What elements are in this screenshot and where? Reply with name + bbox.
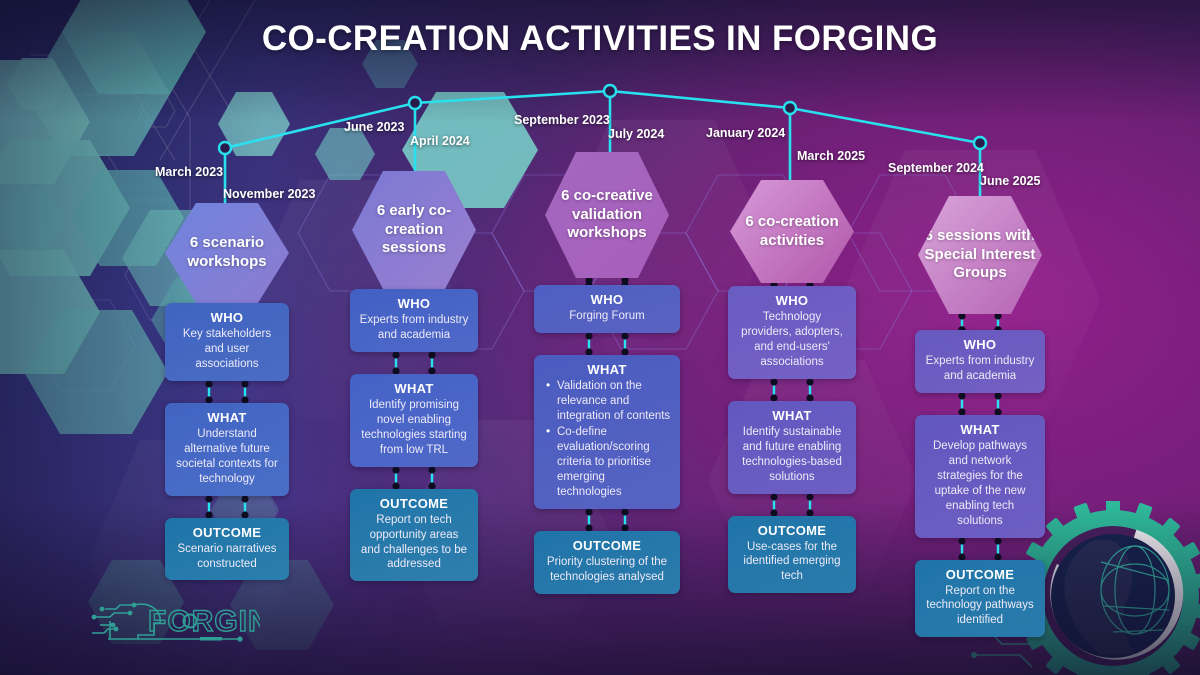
card-connector <box>314 467 514 489</box>
card-title: WHO <box>543 292 671 307</box>
timeline-date-label: July 2024 <box>608 127 664 141</box>
card-body: Identify promising novel enabling techno… <box>359 398 469 458</box>
forging-logo-text: FORGING <box>148 605 260 638</box>
card-body: Priority clustering of the technologies … <box>543 555 671 585</box>
card-outcome[interactable]: OUTCOMEReport on tech opportunity areas … <box>350 489 478 582</box>
timeline-date-label: September 2023 <box>514 113 610 127</box>
card-outcome[interactable]: OUTCOMEReport on the technology pathways… <box>915 560 1045 638</box>
card-title: WHAT <box>924 422 1036 437</box>
card-body: Validation on the relevance and integrat… <box>543 379 671 500</box>
card-connector <box>127 496 327 518</box>
card-outcome[interactable]: OUTCOMEUse-cases for the identified emer… <box>728 516 856 594</box>
card-title: WHO <box>174 310 280 325</box>
card-body: Understand alternative future societal c… <box>174 427 280 487</box>
card-outcome[interactable]: OUTCOMEPriority clustering of the techno… <box>534 531 680 594</box>
card-body: Scenario narratives constructed <box>174 542 280 572</box>
timeline-date-label: June 2025 <box>980 174 1040 188</box>
card-connector <box>692 494 892 516</box>
card-what[interactable]: WHATIdentify promising novel enabling te… <box>350 374 478 467</box>
card-who[interactable]: WHOExperts from industry and academia <box>350 289 478 352</box>
card-connector <box>692 379 892 401</box>
activity-hexagon-label: 6 co-creative validation workshops <box>545 152 669 278</box>
activity-hexagon[interactable]: 6 co-creation activities <box>730 180 854 283</box>
col-special-interest-groups: 6 sessions with Special Interest Groups … <box>880 196 1080 637</box>
card-who[interactable]: WHOTechnology providers, adopters, and e… <box>728 286 856 379</box>
activity-hexagon-label: 6 scenario workshops <box>165 203 289 303</box>
card-who[interactable]: WHOForging Forum <box>534 285 680 333</box>
card-body: Experts from industry and academia <box>924 354 1036 384</box>
card-title: WHO <box>359 296 469 311</box>
activity-hexagon-label: 6 co-creation activities <box>730 180 854 283</box>
card-title: OUTCOME <box>924 567 1036 582</box>
card-body: Report on the technology pathways identi… <box>924 584 1036 629</box>
hexagon-to-card-connector <box>880 314 1080 330</box>
card-what[interactable]: WHATDevelop pathways and network strateg… <box>915 415 1045 538</box>
card-title: WHAT <box>359 381 469 396</box>
timeline-date-label: September 2024 <box>888 161 984 175</box>
timeline-date-label: March 2025 <box>797 149 865 163</box>
card-body: Forging Forum <box>543 309 671 324</box>
activity-hexagon-label: 6 sessions with Special Interest Groups <box>918 196 1042 314</box>
activity-hexagon[interactable]: 6 co-creative validation workshops <box>545 152 669 278</box>
card-title: OUTCOME <box>174 525 280 540</box>
hexagon-to-card-connector <box>507 278 707 285</box>
infographic-canvas: CO-CREATION ACTIVITIES IN FORGING March … <box>0 0 1200 675</box>
card-body: Technology providers, adopters, and end-… <box>737 310 847 370</box>
card-title: WHAT <box>737 408 847 423</box>
card-body: Report on tech opportunity areas and cha… <box>359 513 469 573</box>
card-title: OUTCOME <box>543 538 671 553</box>
card-who[interactable]: WHOExperts from industry and academia <box>915 330 1045 393</box>
card-bullet: Validation on the relevance and integrat… <box>545 379 671 424</box>
timeline-date-label: January 2024 <box>706 126 785 140</box>
card-connector <box>507 333 707 355</box>
col-scenario-workshops: 6 scenario workshops WHOKey stakeholders… <box>127 203 327 580</box>
card-body: Develop pathways and network strategies … <box>924 439 1036 529</box>
card-title: OUTCOME <box>737 523 847 538</box>
card-connector <box>507 509 707 531</box>
card-what[interactable]: WHATValidation on the relevance and inte… <box>534 355 680 510</box>
card-who[interactable]: WHOKey stakeholders and user association… <box>165 303 289 381</box>
activity-hexagon[interactable]: 6 scenario workshops <box>165 203 289 303</box>
card-body: Experts from industry and academia <box>359 313 469 343</box>
card-connector <box>314 352 514 374</box>
card-bullet: Co-define evaluation/scoring criteria to… <box>545 425 671 500</box>
card-title: WHO <box>924 337 1036 352</box>
col-early-co-creation: 6 early co-creation sessions WHOExperts … <box>314 171 514 581</box>
timeline-date-label: April 2024 <box>410 134 470 148</box>
card-what[interactable]: WHATUnderstand alternative future societ… <box>165 403 289 496</box>
card-body: Use-cases for the identified emerging te… <box>737 540 847 585</box>
timeline-date-label: March 2023 <box>155 165 223 179</box>
card-connector <box>880 393 1080 415</box>
activity-hexagon-label: 6 early co-creation sessions <box>352 171 476 289</box>
col-co-creative-validation: 6 co-creative validation workshops WHOFo… <box>507 152 707 594</box>
card-title: WHAT <box>174 410 280 425</box>
col-co-creation-activities: 6 co-creation activities WHOTechnology p… <box>692 180 892 593</box>
card-outcome[interactable]: OUTCOMEScenario narratives constructed <box>165 518 289 581</box>
card-title: WHO <box>737 293 847 308</box>
forging-logo: FORGING <box>50 595 260 653</box>
timeline-date-label: June 2023 <box>344 120 404 134</box>
card-what[interactable]: WHATIdentify sustainable and future enab… <box>728 401 856 494</box>
card-connector <box>127 381 327 403</box>
card-title: WHAT <box>543 362 671 377</box>
activity-hexagon[interactable]: 6 early co-creation sessions <box>352 171 476 289</box>
timeline-date-label: November 2023 <box>223 187 315 201</box>
card-body: Identify sustainable and future enabling… <box>737 425 847 485</box>
activity-hexagon[interactable]: 6 sessions with Special Interest Groups <box>918 196 1042 314</box>
card-connector <box>880 538 1080 560</box>
card-title: OUTCOME <box>359 496 469 511</box>
card-body: Key stakeholders and user associations <box>174 327 280 372</box>
